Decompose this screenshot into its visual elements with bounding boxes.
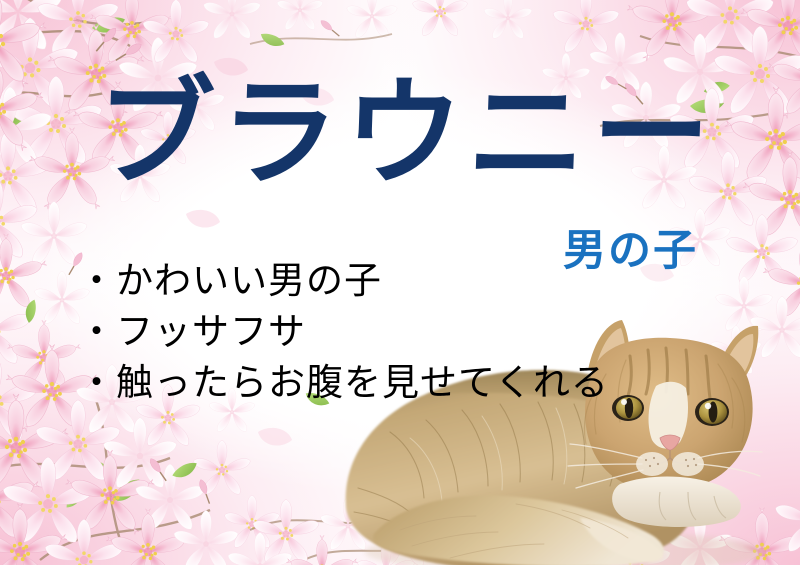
list-item: ・かわいい男の子 bbox=[78, 258, 609, 303]
feature-list: ・かわいい男の子 ・フッサフサ ・触ったらお腹を見せてくれる bbox=[78, 258, 609, 405]
poster-canvas: ブラウニー 男の子 ・かわいい男の子 ・フッサフサ ・触ったらお腹を見せてくれる bbox=[0, 0, 800, 565]
list-item: ・フッサフサ bbox=[78, 309, 609, 354]
list-item: ・触ったらお腹を見せてくれる bbox=[78, 360, 609, 405]
page-title: ブラウニー bbox=[94, 74, 718, 192]
